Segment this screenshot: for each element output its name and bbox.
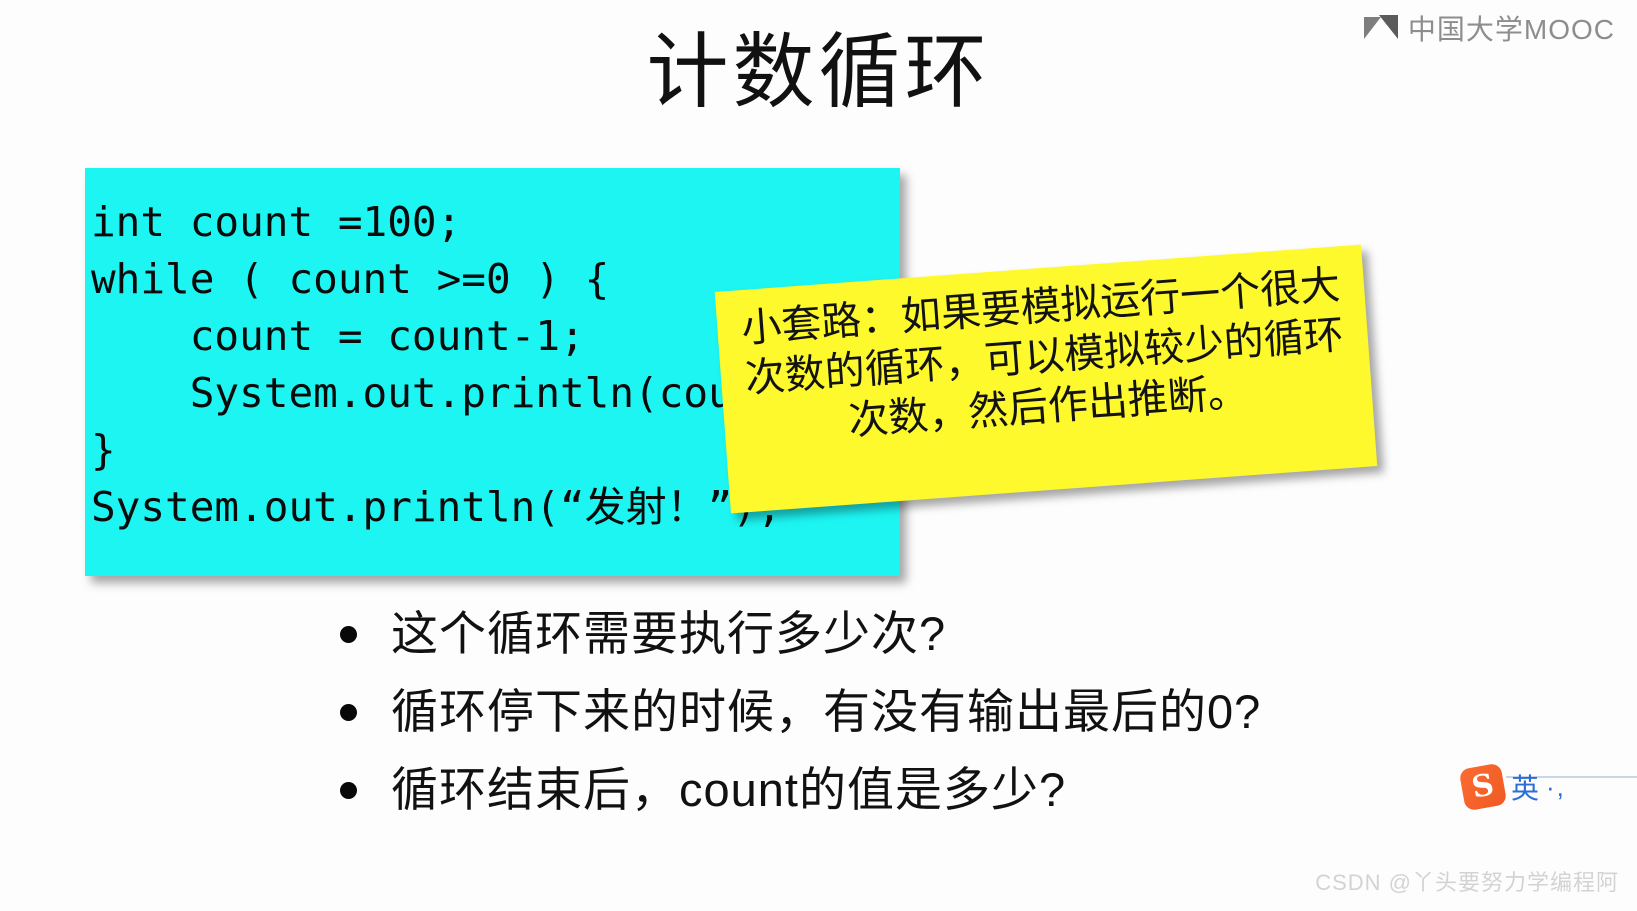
code-line: int count =100; [85, 194, 900, 251]
list-item-label: 这个循环需要执行多少次? [391, 604, 946, 664]
sticky-note-text: 小套路：如果要模拟运行一个很大次数的循环，可以模拟较少的循环次数，然后作出推断。 [728, 259, 1361, 454]
list-item: 循环结束后，count的值是多少? [340, 760, 1520, 820]
sogou-s-icon[interactable]: S [1459, 763, 1508, 812]
bullet-dot-icon [340, 626, 357, 643]
sogou-ime-toolbar[interactable]: S 英 ·, [1462, 766, 1566, 808]
list-item-label: 循环结束后，count的值是多少? [391, 760, 1066, 820]
sticky-note-annotation: 小套路：如果要模拟运行一个很大次数的循环，可以模拟较少的循环次数，然后作出推断。 [715, 245, 1378, 514]
question-bullet-list: 这个循环需要执行多少次? 循环停下来的时候，有没有输出最后的0? 循环结束后，c… [340, 604, 1520, 838]
csdn-watermark: CSDN @丫头要努力学编程阿 [1315, 865, 1619, 897]
ime-mode-toggle[interactable]: 英 [1511, 767, 1539, 807]
bullet-dot-icon [340, 704, 357, 721]
list-item: 循环停下来的时候，有没有输出最后的0? [340, 682, 1520, 742]
list-item-label: 循环停下来的时候，有没有输出最后的0? [391, 682, 1261, 742]
list-item: 这个循环需要执行多少次? [340, 604, 1520, 664]
bullet-dot-icon [340, 782, 357, 799]
presentation-slide: 中国大学MOOC 计数循环 int count =100; while ( co… [0, 0, 1637, 911]
ime-punctuation-toggle[interactable]: ·, [1546, 772, 1566, 803]
sogou-s-icon-glyph: S [1459, 763, 1508, 812]
page-title: 计数循环 [0, 28, 1637, 118]
